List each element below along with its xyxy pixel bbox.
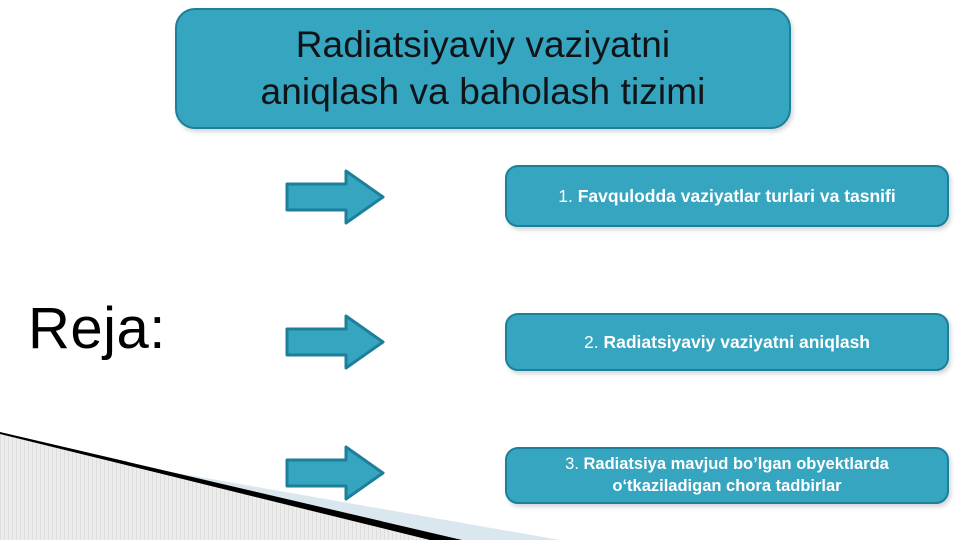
plan-item-label-3: Radiatsiya mavjud bo’lgan obyektlarda o‘…: [584, 455, 889, 494]
presentation-slide: Radiatsiyaviy vaziyatnianiqlash va bahol…: [0, 0, 961, 540]
plan-item-label-2: Radiatsiyaviy vaziyatni aniqlash: [603, 332, 870, 352]
plan-item-text-1: 1. Favqulodda vaziyatlar turlari va tasn…: [544, 185, 910, 208]
plan-item-text-3: 3. Radiatsiya mavjud bo’lgan obyektlarda…: [507, 454, 947, 497]
plan-item-number-1: 1.: [558, 186, 573, 206]
plan-item-number-3: 3.: [565, 455, 579, 473]
plan-label: Reja:: [28, 300, 258, 358]
plan-item-box-3: 3. Radiatsiya mavjud bo’lgan obyektlarda…: [505, 447, 949, 504]
slide-title-box: Radiatsiyaviy vaziyatnianiqlash va bahol…: [175, 8, 791, 129]
slide-title-line-1: Radiatsiyaviy vaziyatni: [296, 24, 671, 65]
plan-item-box-2: 2. Radiatsiyaviy vaziyatni aniqlash: [505, 313, 949, 371]
plan-item-text-2: 2. Radiatsiyaviy vaziyatni aniqlash: [570, 331, 884, 354]
plan-item-label-1: Favqulodda vaziyatlar turlari va tasnifi: [578, 186, 896, 206]
right-arrow-icon: [284, 312, 386, 372]
plan-item-box-1: 1. Favqulodda vaziyatlar turlari va tasn…: [505, 165, 949, 227]
slide-title-text: Radiatsiyaviy vaziyatnianiqlash va bahol…: [247, 22, 720, 115]
right-arrow-icon: [284, 443, 386, 503]
plan-item-number-2: 2.: [584, 332, 599, 352]
slide-title-line-2: aniqlash va baholash tizimi: [261, 71, 706, 112]
right-arrow-icon: [284, 167, 386, 227]
